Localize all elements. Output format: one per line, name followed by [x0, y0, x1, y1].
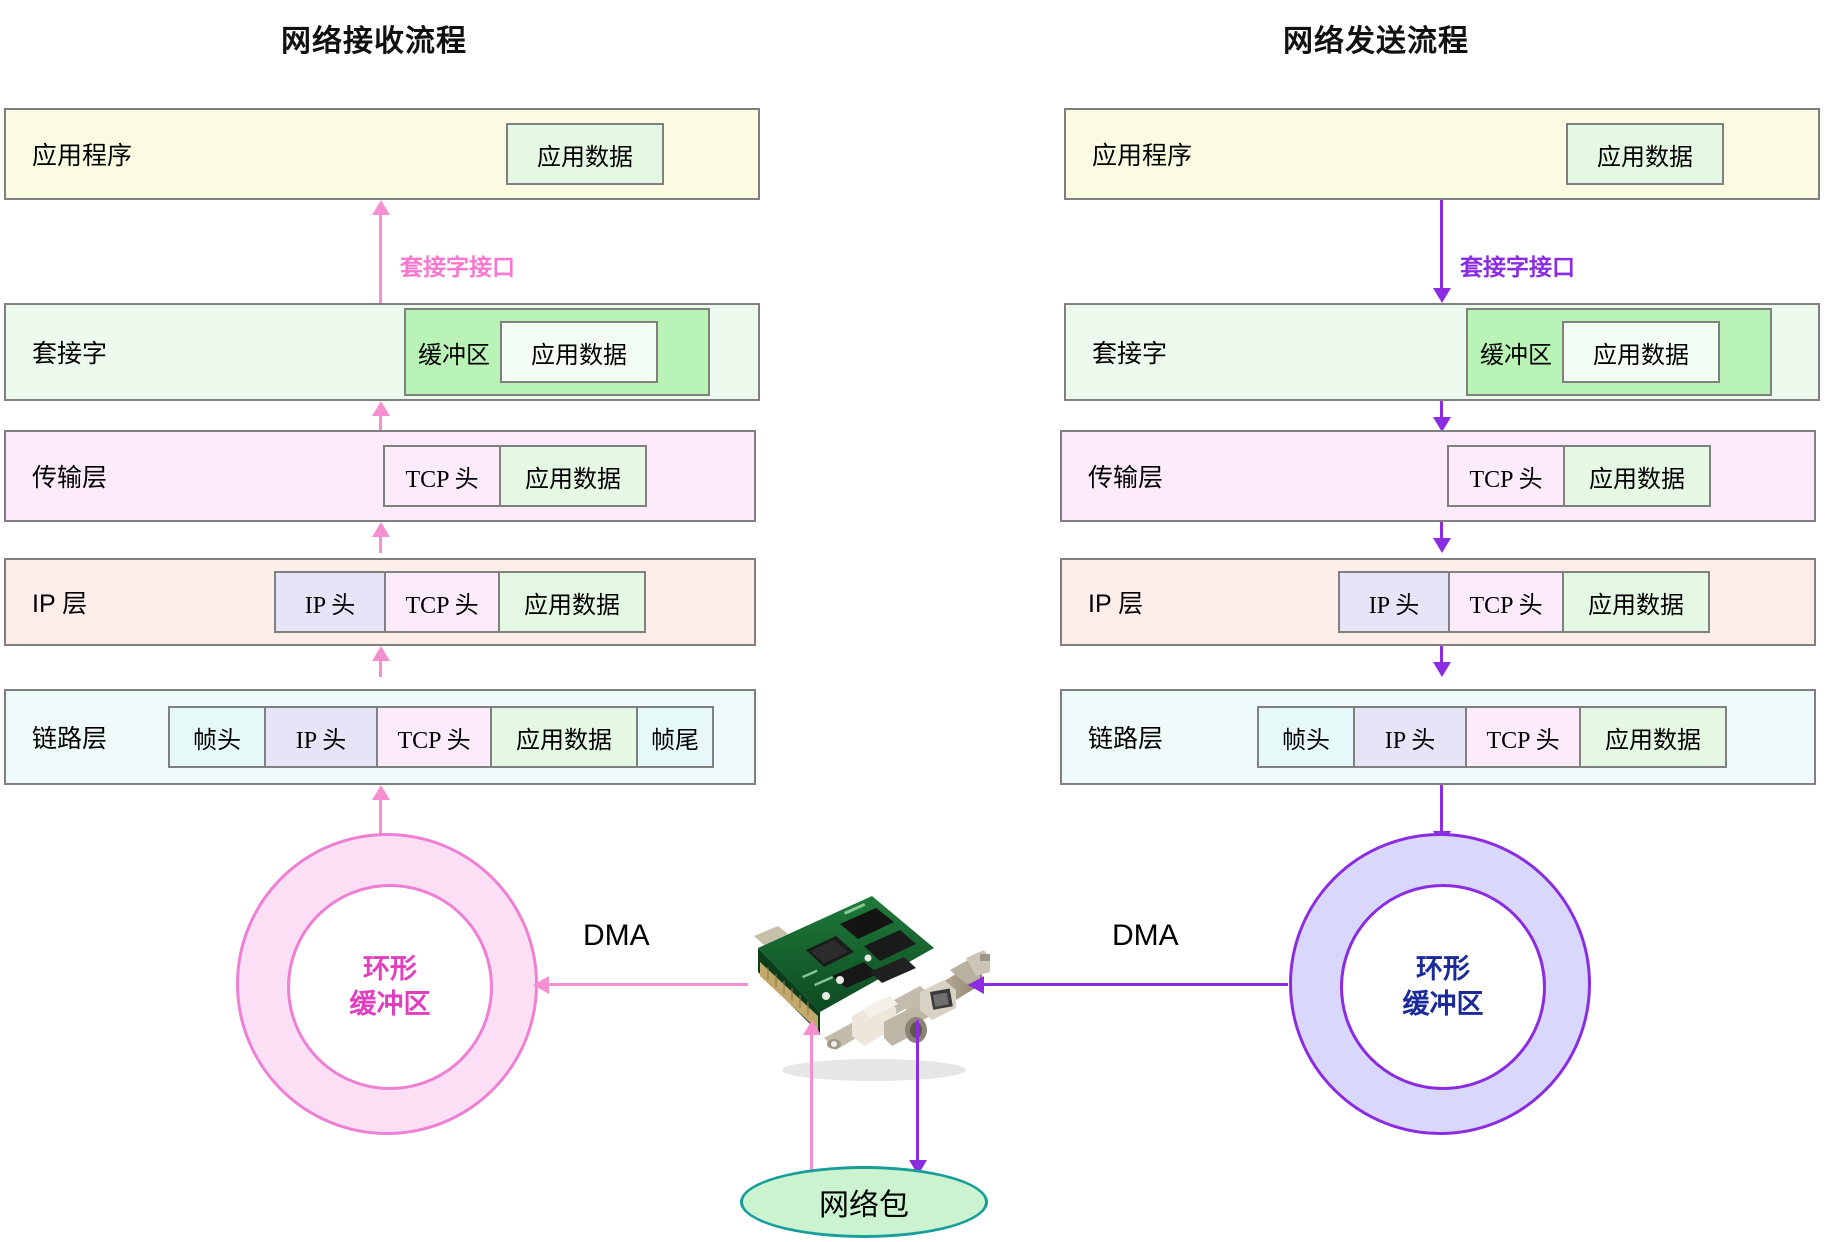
send-layer-application-label: 应用程序	[1092, 136, 1192, 172]
receive-layer-application: 应用程序 应用数据	[4, 108, 760, 200]
receive-ring-buffer: 环形 缓冲区	[236, 833, 538, 1135]
receive-layer-transport: 传输层 TCP 头 应用数据	[4, 430, 756, 522]
receive-dma-label: DMA	[583, 919, 650, 953]
receive-layer-link: 链路层 帧头 IP 头 TCP 头 应用数据 帧尾	[4, 689, 756, 785]
send-socket-segment-appdata: 应用数据	[1562, 321, 1720, 383]
receive-socket-buffer: 缓冲区 应用数据	[404, 308, 710, 396]
receive-ip-segment-ipheader: IP 头	[274, 571, 386, 633]
receive-layer-ip: IP 层 IP 头 TCP 头 应用数据	[4, 558, 756, 646]
receive-layer-socket: 套接字 缓冲区 应用数据	[4, 303, 760, 401]
send-layer-link: 链路层 帧头 IP 头 TCP 头 应用数据	[1060, 689, 1816, 785]
send-layer-socket: 套接字 缓冲区 应用数据	[1064, 303, 1820, 401]
send-layer-ip: IP 层 IP 头 TCP 头 应用数据	[1060, 558, 1816, 646]
receive-link-segment-appdata: 应用数据	[490, 706, 638, 768]
network-packet-node: 网络包	[740, 1166, 988, 1238]
diagram-canvas: 网络接收流程 网络发送流程 应用程序 应用数据 套接字接口 套接字 缓冲区 应用…	[0, 0, 1826, 1242]
receive-transport-segment-appdata: 应用数据	[499, 445, 647, 507]
receive-flow-title: 网络接收流程	[281, 16, 467, 60]
send-ip-segment-tcpheader: TCP 头	[1448, 571, 1564, 633]
send-ip-segment-appdata: 应用数据	[1562, 571, 1710, 633]
receive-layer-transport-label: 传输层	[32, 458, 107, 494]
send-layer-application: 应用程序 应用数据	[1064, 108, 1820, 200]
receive-socket-interface-label: 套接字接口	[400, 248, 515, 282]
send-ip-segment-ipheader: IP 头	[1338, 571, 1450, 633]
send-socket-interface-label: 套接字接口	[1460, 248, 1575, 282]
send-transport-segment-tcpheader: TCP 头	[1447, 445, 1565, 507]
receive-transport-segment-tcpheader: TCP 头	[383, 445, 501, 507]
receive-link-segment-ipheader: IP 头	[264, 706, 378, 768]
send-flow-title: 网络发送流程	[1283, 16, 1469, 60]
receive-layer-socket-label: 套接字	[32, 334, 107, 370]
receive-layer-ip-label: IP 层	[32, 584, 87, 620]
network-interface-card-icon	[744, 888, 1004, 1088]
receive-socket-segment-appdata: 应用数据	[500, 321, 658, 383]
receive-app-segment-appdata: 应用数据	[506, 123, 664, 185]
send-layer-ip-label: IP 层	[1088, 584, 1143, 620]
receive-ring-buffer-label: 环形 缓冲区	[350, 952, 431, 1021]
send-transport-segment-appdata: 应用数据	[1563, 445, 1711, 507]
send-socket-buffer: 缓冲区 应用数据	[1466, 308, 1772, 396]
send-ring-buffer: 环形 缓冲区	[1289, 833, 1591, 1135]
send-link-segment-ipheader: IP 头	[1353, 706, 1467, 768]
receive-ip-segment-tcpheader: TCP 头	[384, 571, 500, 633]
send-link-segment-tcpheader: TCP 头	[1465, 706, 1581, 768]
send-ring-buffer-label: 环形 缓冲区	[1403, 952, 1484, 1021]
receive-layer-application-label: 应用程序	[32, 136, 132, 172]
send-dma-label: DMA	[1112, 919, 1179, 953]
send-app-segment-appdata: 应用数据	[1566, 123, 1724, 185]
receive-ring-buffer-inner: 环形 缓冲区	[287, 884, 493, 1090]
receive-link-segment-tcpheader: TCP 头	[376, 706, 492, 768]
send-link-segment-appdata: 应用数据	[1579, 706, 1727, 768]
send-socket-buffer-label: 缓冲区	[1468, 335, 1564, 370]
receive-link-segment-frametrailer: 帧尾	[636, 706, 714, 768]
send-layer-transport: 传输层 TCP 头 应用数据	[1060, 430, 1816, 522]
send-layer-transport-label: 传输层	[1088, 458, 1163, 494]
receive-layer-link-label: 链路层	[32, 719, 107, 755]
send-ring-buffer-inner: 环形 缓冲区	[1340, 884, 1546, 1090]
send-layer-socket-label: 套接字	[1092, 334, 1167, 370]
network-packet-label: 网络包	[819, 1180, 909, 1224]
send-link-segment-frameheader: 帧头	[1257, 706, 1355, 768]
receive-link-segment-frameheader: 帧头	[168, 706, 266, 768]
receive-socket-buffer-label: 缓冲区	[406, 335, 502, 370]
receive-ip-segment-appdata: 应用数据	[498, 571, 646, 633]
send-layer-link-label: 链路层	[1088, 719, 1163, 755]
